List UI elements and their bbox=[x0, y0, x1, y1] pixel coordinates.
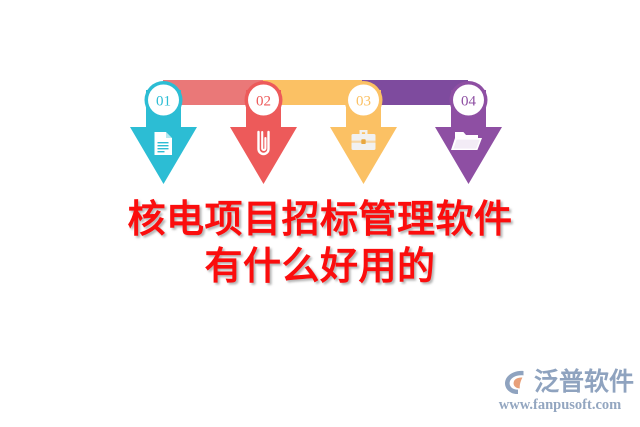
headline-line-1: 核电项目招标管理软件 bbox=[0, 196, 640, 243]
document-icon bbox=[155, 132, 173, 155]
brand-row: 泛普软件 bbox=[485, 366, 635, 398]
fanpu-c-mark-icon bbox=[502, 368, 532, 396]
step-number-02: 02 bbox=[256, 94, 271, 110]
brand-url: www.fanpusoft.com bbox=[485, 397, 635, 414]
step-number-03: 03 bbox=[356, 94, 371, 110]
step-number-04: 04 bbox=[461, 94, 477, 110]
step-infographic: 01 02 bbox=[0, 62, 640, 197]
brand-name: 泛普软件 bbox=[534, 368, 634, 396]
page-title: 核电项目招标管理软件 有什么好用的 bbox=[0, 196, 640, 290]
brand-watermark: 泛普软件 www.fanpusoft.com bbox=[485, 366, 635, 418]
step-number-01: 01 bbox=[156, 94, 171, 110]
connector-bars bbox=[163, 80, 468, 105]
poster-canvas: 01 02 bbox=[0, 0, 640, 427]
infographic-svg: 01 02 bbox=[0, 62, 640, 197]
headline-line-2: 有什么好用的 bbox=[0, 243, 640, 290]
